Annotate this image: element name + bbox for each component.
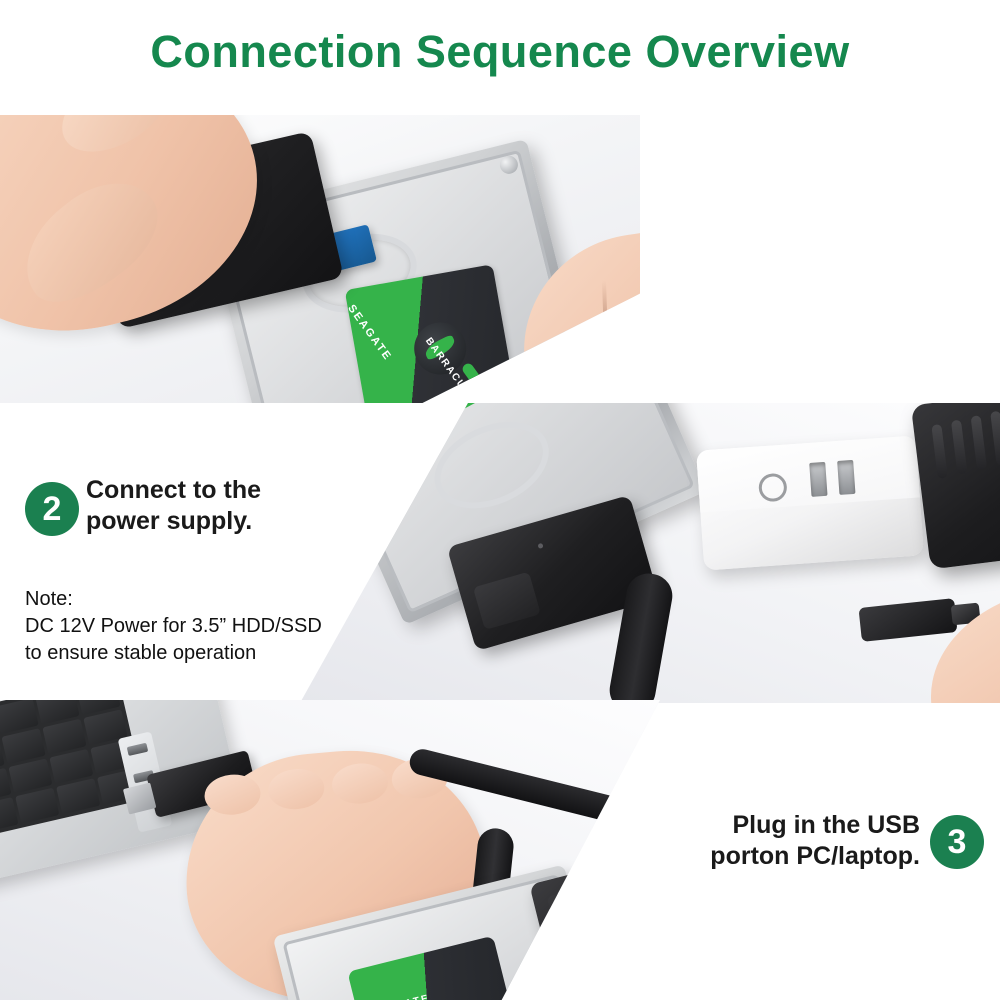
step-1-line-1: Connect the adapter xyxy=(620,201,640,232)
step-3-line-1: Plug in the USB xyxy=(640,810,920,841)
laptop-keyboard xyxy=(0,700,146,857)
label-pill xyxy=(460,361,489,395)
seagate-brand-text: SEAGATE xyxy=(369,993,431,1000)
step-1-line-2: to the external disk. xyxy=(620,232,640,263)
step-2-text: Connect to the power supply. xyxy=(86,475,346,537)
hand-knuckle xyxy=(330,761,389,806)
step-2-panel: SEAGATE xyxy=(0,403,1000,703)
step-1-photo: SEAGATE BARRACUDA xyxy=(0,115,640,403)
step-3-line-2: porton PC/laptop. xyxy=(640,841,920,872)
step-3-panel: SEAGATE Plug in the USB porton PC/laptop… xyxy=(0,700,1000,1000)
usb-port-icon xyxy=(837,460,855,495)
step-3-text: Plug in the USB porton PC/laptop. xyxy=(640,810,920,872)
seagate-label: SEAGATE BARRACUDA xyxy=(345,264,518,403)
psu-fin xyxy=(990,411,1000,466)
drive-screw xyxy=(550,362,572,384)
hand-fingers xyxy=(47,115,186,170)
hand-crease xyxy=(602,281,610,391)
step-2-note: Note: DC 12V Power for 3.5” HDD/SSD to e… xyxy=(25,586,455,667)
step-3-badge: 3 xyxy=(930,815,984,869)
usb-hub-image xyxy=(696,435,924,570)
adapter-side-tab xyxy=(473,572,541,630)
keyboard-key xyxy=(15,788,59,824)
step-1-panel: SEAGATE BARRACUDA Con xyxy=(0,115,640,403)
adapter-led-icon xyxy=(537,543,543,549)
psu-fin xyxy=(951,420,968,475)
adapter-led-icon xyxy=(629,912,635,918)
usb-port-icon xyxy=(127,743,149,756)
keyboard-key xyxy=(42,719,86,755)
psu-fin xyxy=(931,424,948,479)
keyboard-key xyxy=(0,797,18,833)
adapter-side-tab xyxy=(547,883,612,941)
hand-knuckle xyxy=(267,767,326,812)
step-2-badge: 2 xyxy=(25,482,79,536)
step-3-photo: SEAGATE xyxy=(0,700,660,1000)
step-2-line-2: power supply. xyxy=(86,506,346,537)
step-2-line-1: Connect to the xyxy=(86,475,346,506)
usb-port-icon xyxy=(809,462,827,497)
hand-thumb xyxy=(4,161,176,323)
keyboard-key xyxy=(1,728,45,764)
psu-fin xyxy=(971,415,988,470)
seagate-brand-text: SEAGATE xyxy=(428,403,477,405)
page-title: Connection Sequence Overview xyxy=(0,26,1000,78)
infographic-page: Connection Sequence Overview SEAGATE BAR… xyxy=(0,0,1000,1000)
keyboard-key xyxy=(56,778,100,814)
step-1-text: Connect the adapter to the external disk… xyxy=(620,201,640,263)
